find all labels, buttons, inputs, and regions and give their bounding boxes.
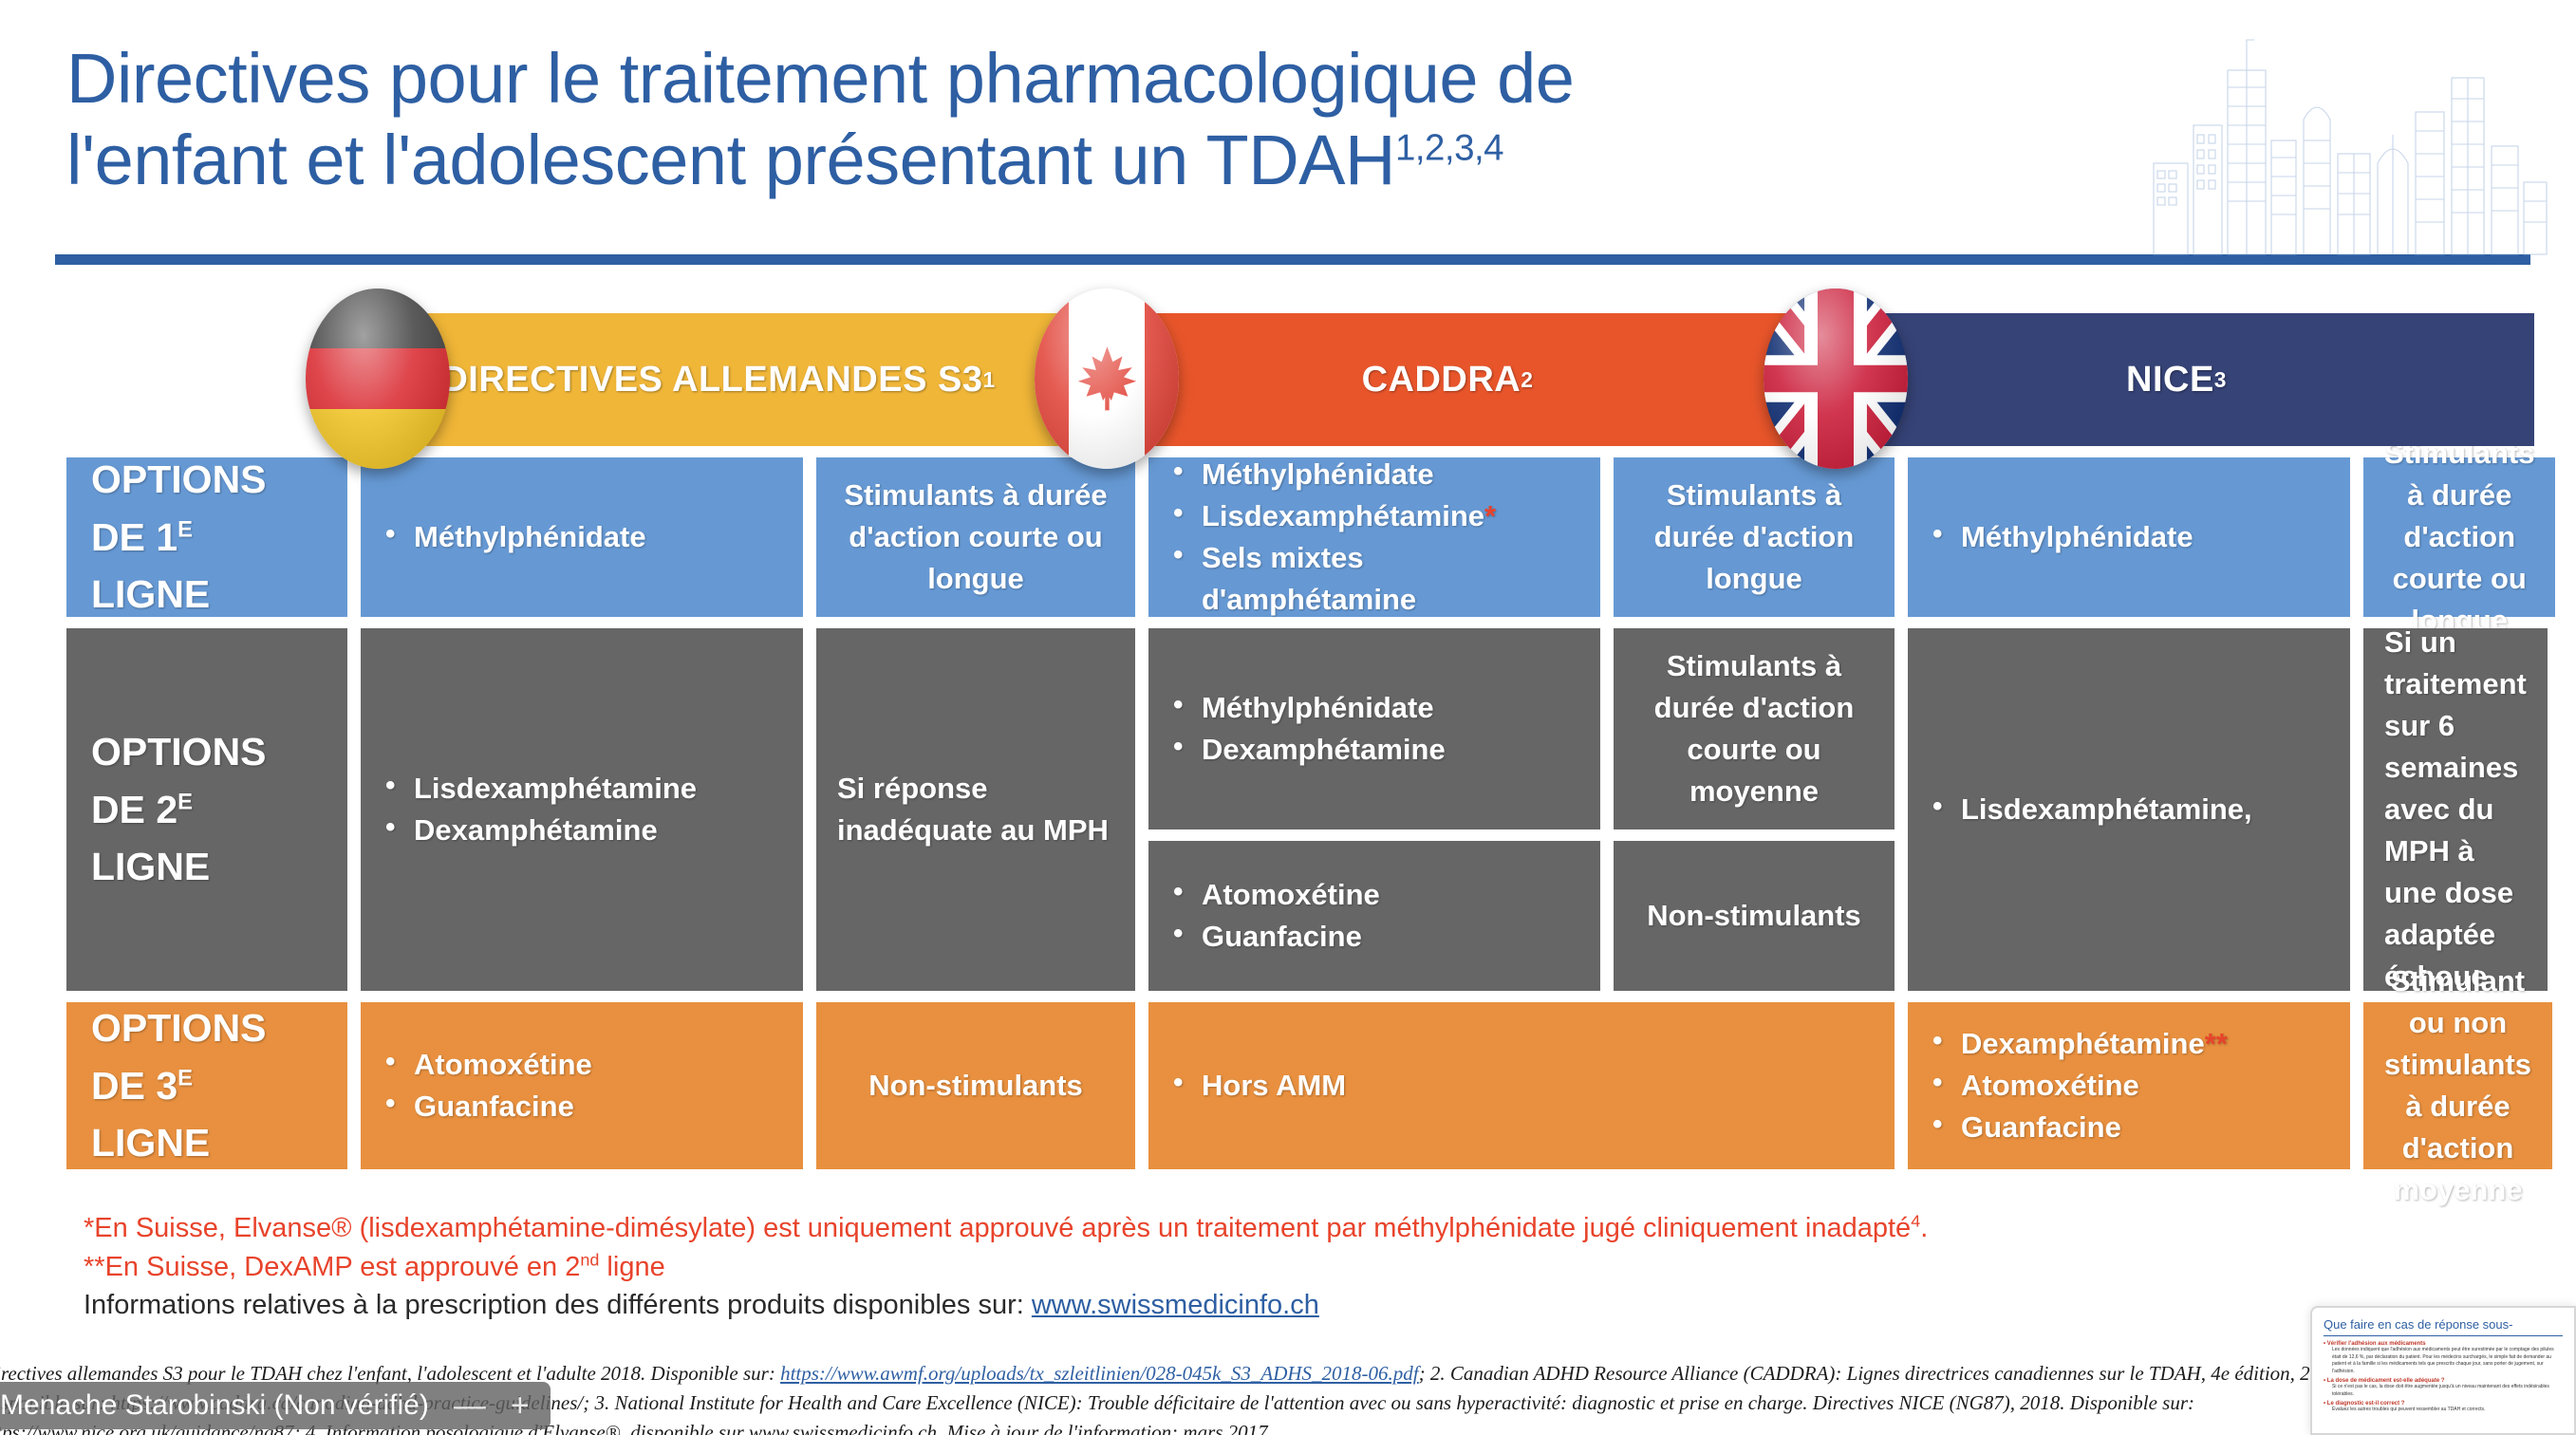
row-label-line1: OPTIONS DE 1E LIGNE bbox=[66, 457, 347, 617]
list-item: Lisdexamphétamine bbox=[382, 768, 697, 810]
drug-list-germany-line2: Lisdexamphétamine Dexamphétamine bbox=[361, 628, 803, 991]
footnote-ordinal-sup: nd bbox=[580, 1250, 599, 1269]
awmf-link[interactable]: https://www.awmf.org/uploads/tx_szleitli… bbox=[780, 1362, 1419, 1385]
cell-group-nice-line3: Dexamphétamine** Atomoxétine Guanfacine … bbox=[1908, 1002, 2548, 1169]
column-header-germany-label: DIRECTIVES ALLEMANDES S3 bbox=[441, 360, 982, 401]
drug-list-germany-line1: Méthylphénidate bbox=[361, 457, 803, 617]
row-label-line2-l1: OPTIONS bbox=[91, 730, 267, 773]
row-gap bbox=[347, 628, 361, 991]
note-caddra-line2-b: Non-stimulants bbox=[1614, 841, 1895, 991]
participant-name-label: Menache Starobinski (Non vérifié) bbox=[0, 1389, 429, 1422]
drug-list-caddra-line3: Hors AMM bbox=[1148, 1002, 1895, 1169]
double-asterisk-marker: ** bbox=[2205, 1027, 2228, 1060]
page-title: Directives pour le traitement pharmacolo… bbox=[66, 38, 2155, 201]
cell-group-caddra-line3: Hors AMM bbox=[1148, 1002, 1895, 1169]
row-label-line3-sup: E bbox=[177, 1065, 193, 1090]
note-nice-line1: Stimulants à durée d'action courte ou lo… bbox=[2363, 457, 2555, 617]
column-header-caddra[interactable]: CADDRA2 bbox=[1090, 313, 1805, 446]
list-item: Lisdexamphétamine* bbox=[1169, 495, 1579, 537]
row-gap bbox=[347, 1002, 361, 1169]
list-item: Sels mixtes d'amphétamine bbox=[1169, 537, 1579, 621]
row-label-line1-sup: E bbox=[177, 516, 193, 542]
title-line-2: l'enfant et l'adolescent présentant un T… bbox=[66, 120, 2155, 201]
row-gap bbox=[1135, 628, 1148, 991]
list-item: Méthylphénidate bbox=[382, 516, 646, 558]
list-item: Guanfacine bbox=[1929, 1107, 2228, 1148]
row-gap bbox=[1895, 628, 1908, 991]
drug-list-nice-line3: Dexamphétamine** Atomoxétine Guanfacine bbox=[1908, 1002, 2350, 1169]
thumbnail-bullet-1-sub: Les données indiquent que l'adhésion aux… bbox=[2332, 1347, 2563, 1375]
table-header-row: DIRECTIVES ALLEMANDES S31 CADDRA2 bbox=[66, 313, 2534, 446]
table-row: OPTIONS DE 3E LIGNE Atomoxétine Guanfaci… bbox=[66, 1002, 2534, 1169]
guidelines-table: DIRECTIVES ALLEMANDES S31 CADDRA2 bbox=[66, 313, 2534, 1181]
row-gap bbox=[347, 457, 361, 617]
caddra-line2-upper: Méthylphénidate Dexamphétamine Stimulant… bbox=[1148, 628, 1895, 829]
title-underline-rule bbox=[55, 254, 2530, 265]
flag-uk-icon bbox=[1764, 289, 1908, 469]
list-item: Méthylphénidate bbox=[1929, 516, 2193, 558]
row-label-line3-l1: OPTIONS bbox=[91, 1006, 267, 1050]
footnote-single-asterisk: *En Suisse, Elvanse® (lisdexamphétamine-… bbox=[84, 1209, 2437, 1248]
drug-list-caddra-line1: Méthylphénidate Lisdexamphétamine* Sels … bbox=[1148, 457, 1600, 617]
row-gap bbox=[1895, 1002, 1908, 1169]
row-label-line1-l1: OPTIONS bbox=[91, 457, 267, 501]
row-label-line2-sup: E bbox=[177, 789, 193, 814]
column-header-nice[interactable]: NICE3 bbox=[1819, 313, 2534, 446]
slide-canvas: Directives pour le traitement pharmacolo… bbox=[0, 0, 2576, 1435]
footnote-ref-sup: 4 bbox=[1911, 1211, 1920, 1230]
list-item: Méthylphénidate bbox=[1169, 687, 1446, 729]
row-label-line1-l3: LIGNE bbox=[91, 572, 210, 616]
row-label-line2: OPTIONS DE 2E LIGNE bbox=[66, 628, 347, 991]
row-label-line2-l3: LIGNE bbox=[91, 845, 210, 888]
table-row: OPTIONS DE 1E LIGNE Méthylphénidate Stim… bbox=[66, 457, 2534, 617]
row-label-line3-l3: LIGNE bbox=[91, 1121, 210, 1165]
drug-list-caddra-line2-a: Méthylphénidate Dexamphétamine bbox=[1148, 628, 1600, 829]
row-label-line3: OPTIONS DE 3E LIGNE bbox=[66, 1002, 347, 1169]
list-item: Hors AMM bbox=[1169, 1065, 1346, 1107]
list-item: Guanfacine bbox=[382, 1086, 592, 1127]
title-superscript: 1,2,3,4 bbox=[1395, 127, 1503, 168]
cell-group-germany-line2: Lisdexamphétamine Dexamphétamine Si répo… bbox=[361, 628, 1135, 991]
zoom-in-button[interactable]: + bbox=[511, 1389, 530, 1422]
list-item: Dexamphétamine bbox=[1169, 729, 1446, 771]
caddra-line2-stack: Méthylphénidate Dexamphétamine Stimulant… bbox=[1148, 628, 1895, 991]
list-item: Méthylphénidate bbox=[1169, 454, 1579, 495]
footnotes-block: *En Suisse, Elvanse® (lisdexamphétamine-… bbox=[84, 1209, 2437, 1325]
drug-list-germany-line3: Atomoxétine Guanfacine bbox=[361, 1002, 803, 1169]
note-caddra-line1: Stimulants à durée d'action longue bbox=[1614, 457, 1895, 617]
row-label-line1-l2: DE 1 bbox=[91, 515, 177, 559]
drug-list-nice-line1: Méthylphénidate bbox=[1908, 457, 2350, 617]
column-header-caddra-label: CADDRA bbox=[1362, 360, 1521, 401]
row-gap bbox=[1135, 1002, 1148, 1169]
note-germany-line1: Stimulants à durée d'action courte ou lo… bbox=[816, 457, 1135, 617]
note-germany-line2: Si réponse inadéquate au MPH bbox=[816, 628, 1135, 991]
list-item: Dexamphétamine** bbox=[1929, 1023, 2228, 1065]
cell-group-nice-line2: Lisdexamphétamine, Si un traitement sur … bbox=[1908, 628, 2548, 991]
asterisk-marker: * bbox=[1484, 499, 1496, 532]
caddra-line2-lower: Atomoxétine Guanfacine Non-stimulants bbox=[1148, 841, 1895, 991]
table-row: OPTIONS DE 2E LIGNE Lisdexamphétamine De… bbox=[66, 628, 2534, 991]
swissmedicinfo-link[interactable]: www.swissmedicinfo.ch bbox=[1032, 1290, 1319, 1320]
note-nice-line2: Si un traitement sur 6 semaines avec du … bbox=[2363, 628, 2548, 991]
row-gap bbox=[1135, 457, 1148, 617]
row-label-line2-l2: DE 2 bbox=[91, 788, 177, 831]
list-item: Lisdexamphétamine, bbox=[1929, 789, 2252, 830]
note-germany-line3: Non-stimulants bbox=[816, 1002, 1135, 1169]
footnote-prescribing-info: Informations relatives à la prescription… bbox=[84, 1286, 2437, 1325]
cell-group-caddra-line1: Méthylphénidate Lisdexamphétamine* Sels … bbox=[1148, 457, 1895, 617]
title-line-1: Directives pour le traitement pharmacolo… bbox=[66, 38, 2155, 120]
flag-canada-icon bbox=[1035, 289, 1179, 469]
next-slide-thumbnail[interactable]: Que faire en cas de réponse sous- • Véri… bbox=[2310, 1306, 2576, 1435]
list-item: Atomoxétine bbox=[1929, 1065, 2228, 1107]
thumbnail-bullet-3-sub: Évaluez les autres troubles qui peuvent … bbox=[2332, 1407, 2563, 1414]
thumbnail-title: Que faire en cas de réponse sous- bbox=[2324, 1317, 2563, 1336]
cell-group-caddra-line2: Méthylphénidate Dexamphétamine Stimulant… bbox=[1148, 628, 1895, 991]
zoom-out-button[interactable]: — bbox=[454, 1389, 486, 1422]
list-item: Atomoxétine bbox=[382, 1044, 592, 1086]
cell-group-germany-line3: Atomoxétine Guanfacine Non-stimulants bbox=[361, 1002, 1135, 1169]
drug-list-nice-line2: Lisdexamphétamine, bbox=[1908, 628, 2350, 991]
thumbnail-bullet-2-sub: Si ce n'est pas le cas, la dose doit êtr… bbox=[2332, 1384, 2563, 1398]
skyline-decoration-icon bbox=[2144, 21, 2552, 258]
footnote-double-asterisk: **En Suisse, DexAMP est approuvé en 2nd … bbox=[84, 1248, 2437, 1287]
column-header-germany[interactable]: DIRECTIVES ALLEMANDES S31 bbox=[361, 313, 1076, 446]
list-item: Dexamphétamine bbox=[382, 810, 697, 851]
cell-group-germany-line1: Méthylphénidate Stimulants à durée d'act… bbox=[361, 457, 1135, 617]
list-item: Guanfacine bbox=[1169, 916, 1380, 958]
drug-list-caddra-line2-b: Atomoxétine Guanfacine bbox=[1148, 841, 1600, 991]
column-header-nice-label: NICE bbox=[2126, 360, 2214, 401]
flag-germany-icon bbox=[306, 289, 450, 469]
cell-group-nice-line1: Méthylphénidate Stimulants à durée d'act… bbox=[1908, 457, 2548, 617]
row-gap bbox=[1895, 457, 1908, 617]
list-item: Atomoxétine bbox=[1169, 874, 1380, 916]
participant-overlay-bar: Menache Starobinski (Non vérifié) — + bbox=[0, 1382, 551, 1429]
note-caddra-line2-a: Stimulants à durée d'action courte ou mo… bbox=[1614, 628, 1895, 829]
row-label-line3-l2: DE 3 bbox=[91, 1064, 177, 1108]
note-nice-line3: Stimulant ou non stimulants à durée d'ac… bbox=[2363, 1002, 2552, 1169]
